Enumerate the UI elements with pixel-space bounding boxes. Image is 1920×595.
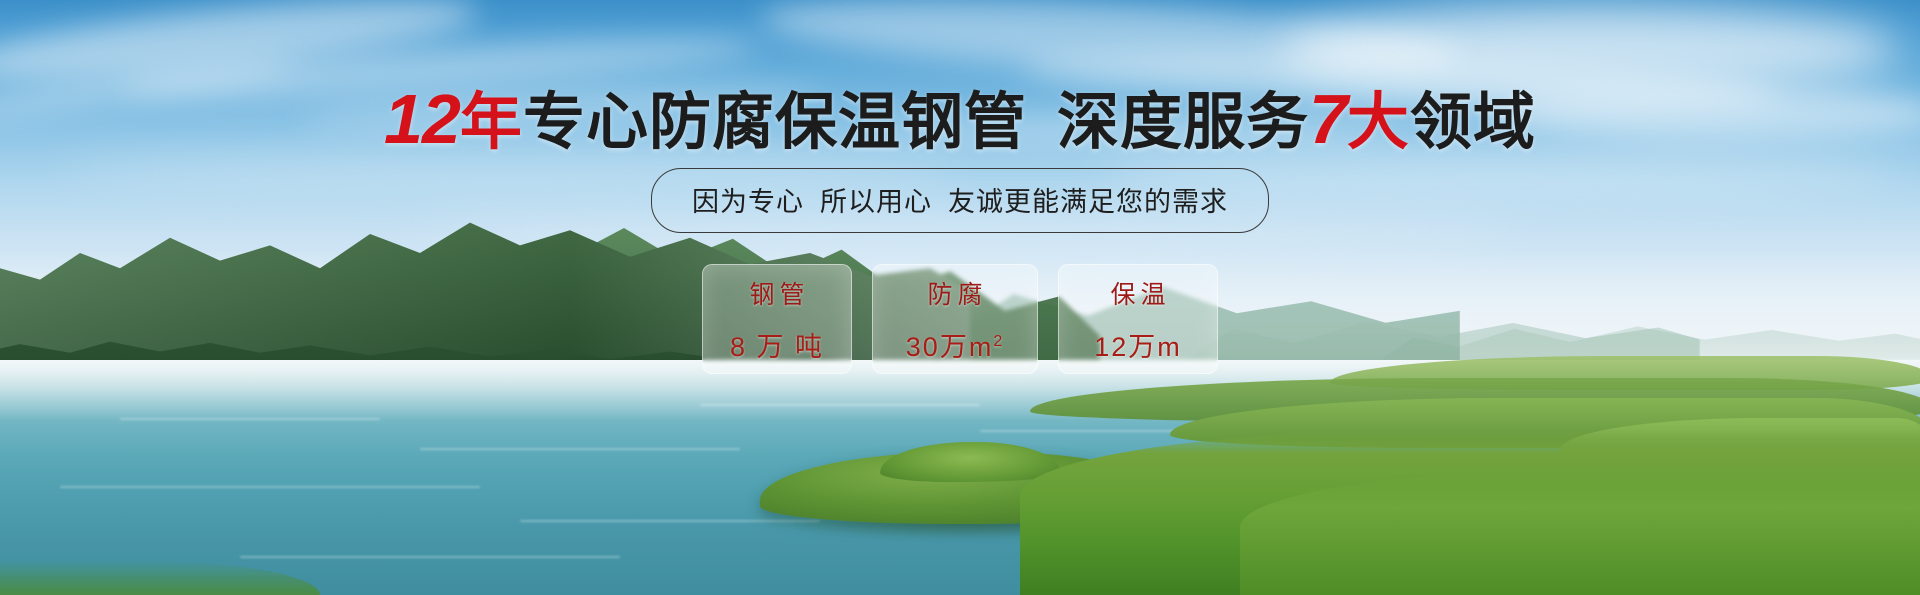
headline-years-number: 12 bbox=[384, 80, 460, 158]
stat-card-steel-pipe[interactable]: 钢管 8 万 吨 bbox=[702, 264, 852, 374]
stat-card-value-superscript: 2 bbox=[993, 333, 1004, 350]
stat-card-value: 30万m2 bbox=[906, 325, 1004, 364]
subtitle-pill: 因为专心所以用心友诚更能满足您的需求 bbox=[651, 168, 1269, 233]
subtitle-container: 因为专心所以用心友诚更能满足您的需求 bbox=[0, 168, 1920, 233]
water-ripple bbox=[700, 404, 980, 406]
headline-tail-text: 领域 bbox=[1410, 88, 1536, 157]
stat-card-insulation[interactable]: 保温 12万m bbox=[1058, 264, 1218, 374]
stat-card-value: 12万m bbox=[1094, 325, 1182, 364]
water-ripple bbox=[520, 520, 820, 522]
water-ripple bbox=[980, 430, 1180, 432]
headline-second-text: 深度服务 bbox=[1057, 88, 1309, 157]
water-ripple bbox=[120, 418, 380, 420]
stat-card-value-text: 30万m bbox=[906, 332, 994, 362]
water-ripple bbox=[240, 556, 620, 558]
headline-years-unit: 年 bbox=[460, 88, 523, 157]
stat-card-value: 8 万 吨 bbox=[730, 325, 824, 364]
subtitle-part-2: 所以用心 bbox=[820, 187, 932, 217]
stat-card-anticorrosion[interactable]: 防腐 30万m2 bbox=[872, 264, 1038, 374]
water-ripple bbox=[60, 486, 480, 488]
foreground-grass-near bbox=[1240, 470, 1920, 595]
stat-card-label: 钢管 bbox=[744, 275, 809, 311]
headline-fields-unit: 大 bbox=[1347, 88, 1410, 157]
hero-banner: 12年专心防腐保温钢管深度服务7大领域 因为专心所以用心友诚更能满足您的需求 钢… bbox=[0, 0, 1920, 595]
stat-card-label: 防腐 bbox=[922, 275, 987, 311]
headline-main-text: 专心防腐保温钢管 bbox=[523, 88, 1027, 157]
stat-card-label: 保温 bbox=[1105, 275, 1170, 311]
headline-fields-number: 7 bbox=[1309, 80, 1347, 158]
subtitle-part-1: 因为专心 bbox=[692, 187, 804, 217]
banner-headline: 12年专心防腐保温钢管深度服务7大领域 bbox=[0, 84, 1920, 154]
water-ripple bbox=[420, 448, 740, 450]
stat-cards-row: 钢管 8 万 吨 防腐 30万m2 保温 12万m bbox=[0, 264, 1920, 374]
subtitle-part-3: 友诚更能满足您的需求 bbox=[948, 187, 1228, 217]
